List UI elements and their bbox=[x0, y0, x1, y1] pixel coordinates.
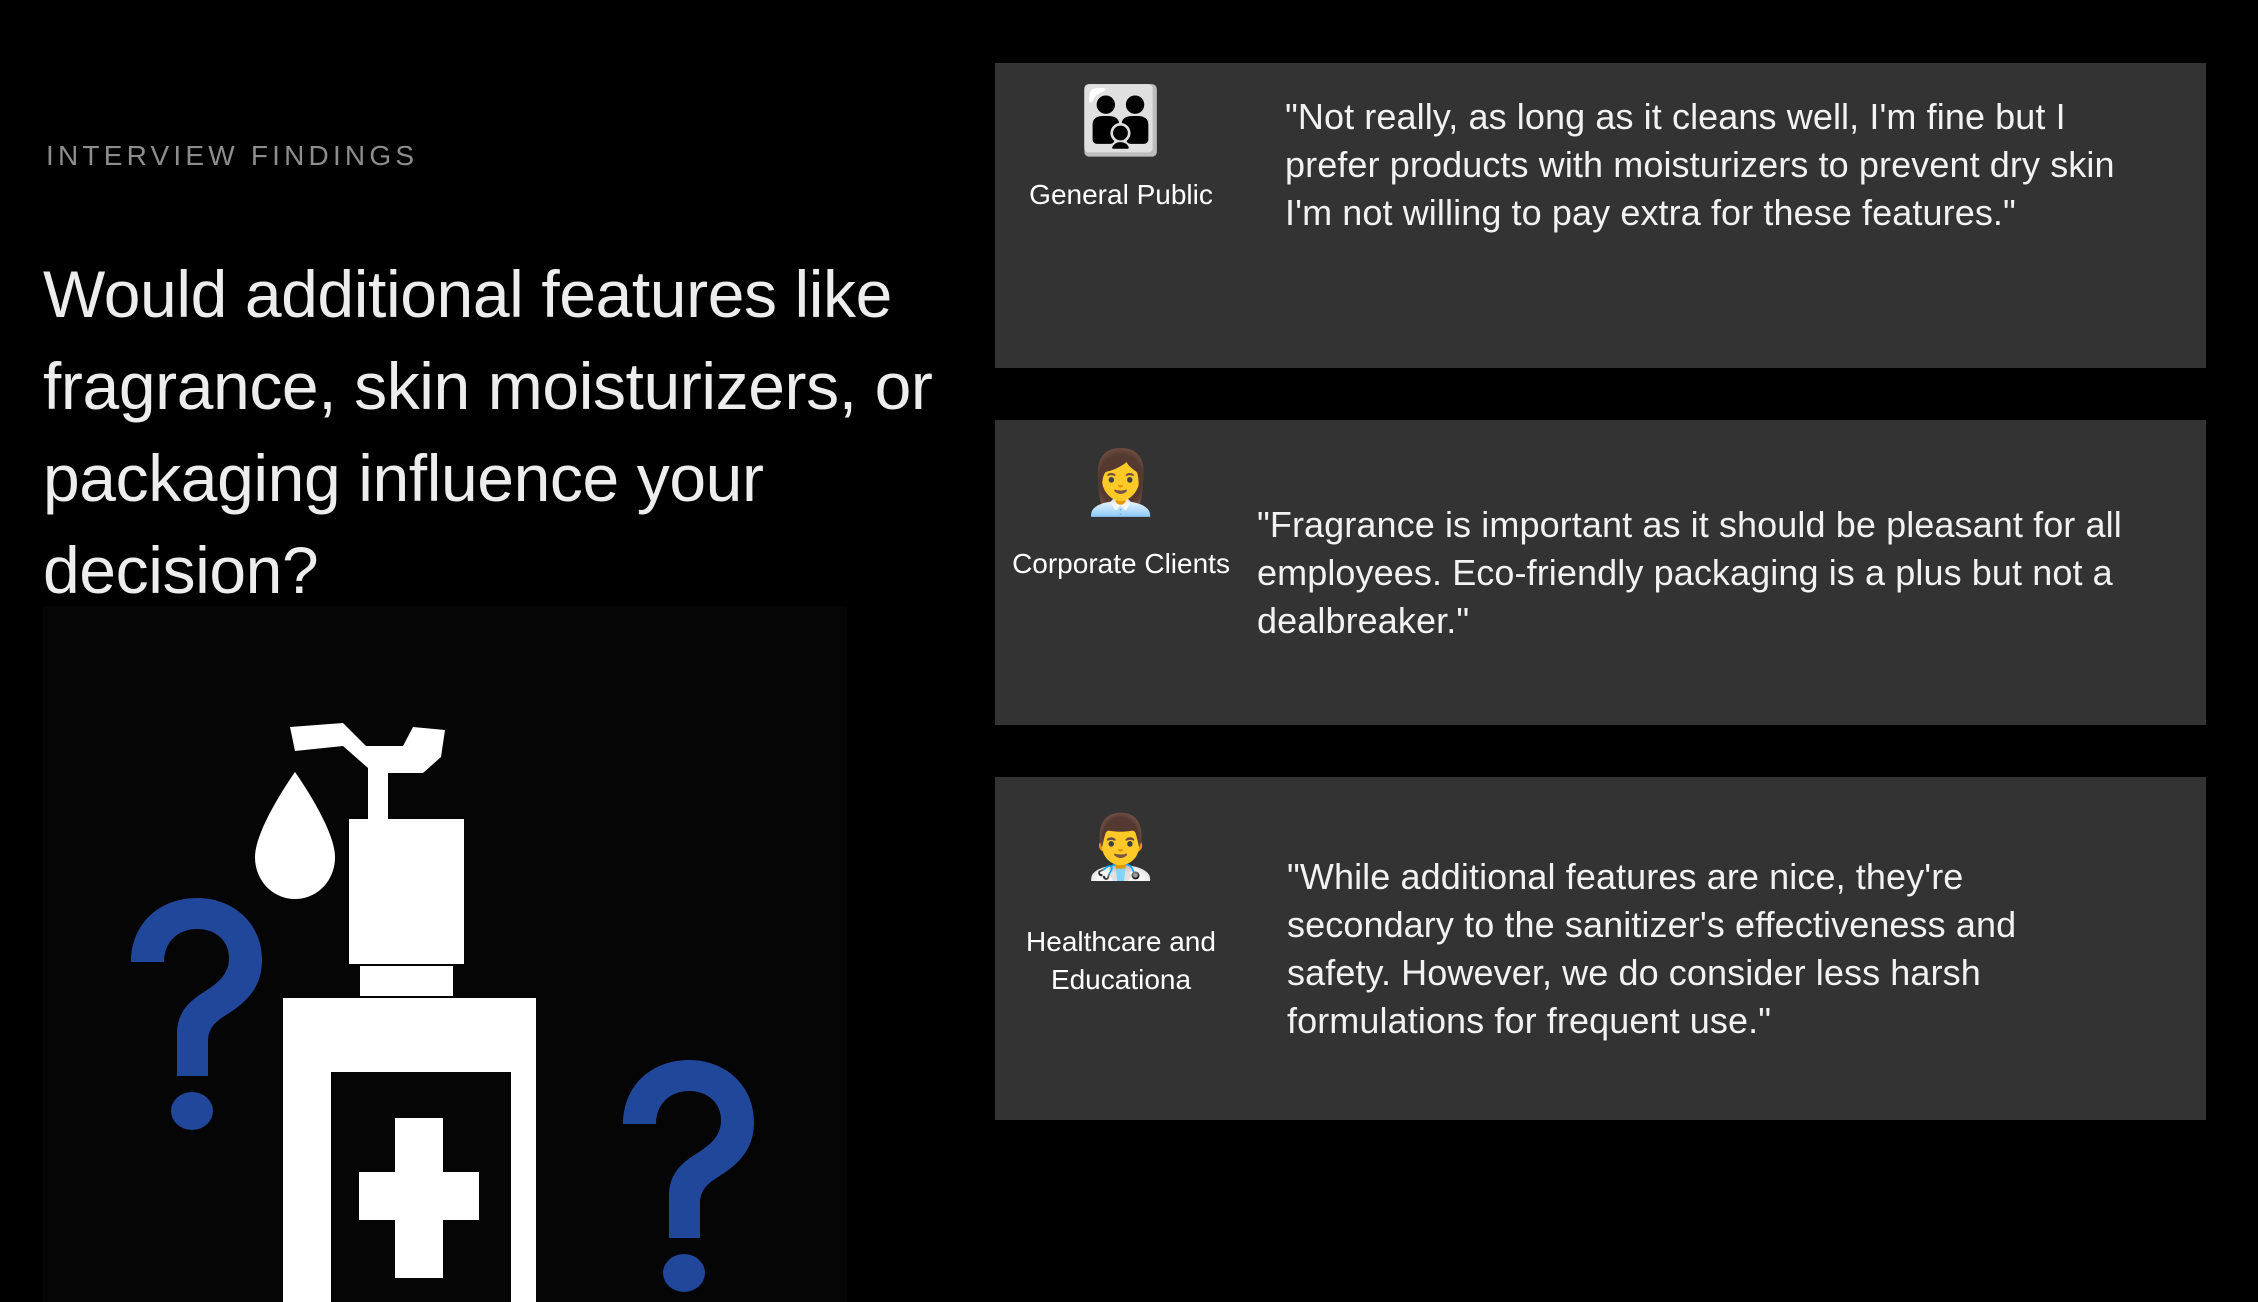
quote-card: 👩‍💼 Corporate Clients "Fragrance is impo… bbox=[995, 420, 2206, 725]
left-column: INTERVIEW FINDINGS Would additional feat… bbox=[0, 0, 990, 1302]
quote-body: "While additional features are nice, the… bbox=[1247, 777, 2206, 1120]
quote-body: "Fragrance is important as it should be … bbox=[1247, 420, 2206, 725]
quote-cards-column: 👪 General Public "Not really, as long as… bbox=[995, 0, 2206, 1302]
quote-text: "Fragrance is important as it should be … bbox=[1257, 501, 2157, 645]
family-emoji: 👪 bbox=[1080, 85, 1162, 156]
cross-horizontal-shape bbox=[359, 1172, 479, 1220]
persona-block: 👪 General Public bbox=[995, 63, 1247, 368]
persona-label: Healthcare and Educationa bbox=[1006, 923, 1236, 999]
pump-body-shape bbox=[349, 819, 464, 964]
persona-label: General Public bbox=[1029, 176, 1213, 214]
health-worker-emoji: 👨‍⚕️ bbox=[1082, 814, 1159, 881]
quote-card: 👨‍⚕️ Healthcare and Educationa "While ad… bbox=[995, 777, 2206, 1120]
quote-body: "Not really, as long as it cleans well, … bbox=[1247, 63, 2206, 368]
hand-sanitizer-illustration bbox=[43, 606, 847, 1302]
persona-label: Corporate Clients bbox=[1012, 545, 1230, 583]
businesswoman-emoji: 👩‍💼 bbox=[1082, 450, 1159, 517]
section-eyebrow-label: INTERVIEW FINDINGS bbox=[46, 140, 418, 172]
illustration-panel bbox=[43, 606, 847, 1302]
bottle-collar-shape bbox=[360, 966, 453, 996]
persona-block: 👨‍⚕️ Healthcare and Educationa bbox=[995, 777, 1247, 1120]
quote-text: "While additional features are nice, the… bbox=[1287, 853, 2097, 1045]
page-title: Would additional features like fragrance… bbox=[43, 248, 948, 616]
quote-card: 👪 General Public "Not really, as long as… bbox=[995, 63, 2206, 368]
quote-text: "Not really, as long as it cleans well, … bbox=[1285, 93, 2165, 237]
persona-block: 👩‍💼 Corporate Clients bbox=[995, 420, 1247, 725]
